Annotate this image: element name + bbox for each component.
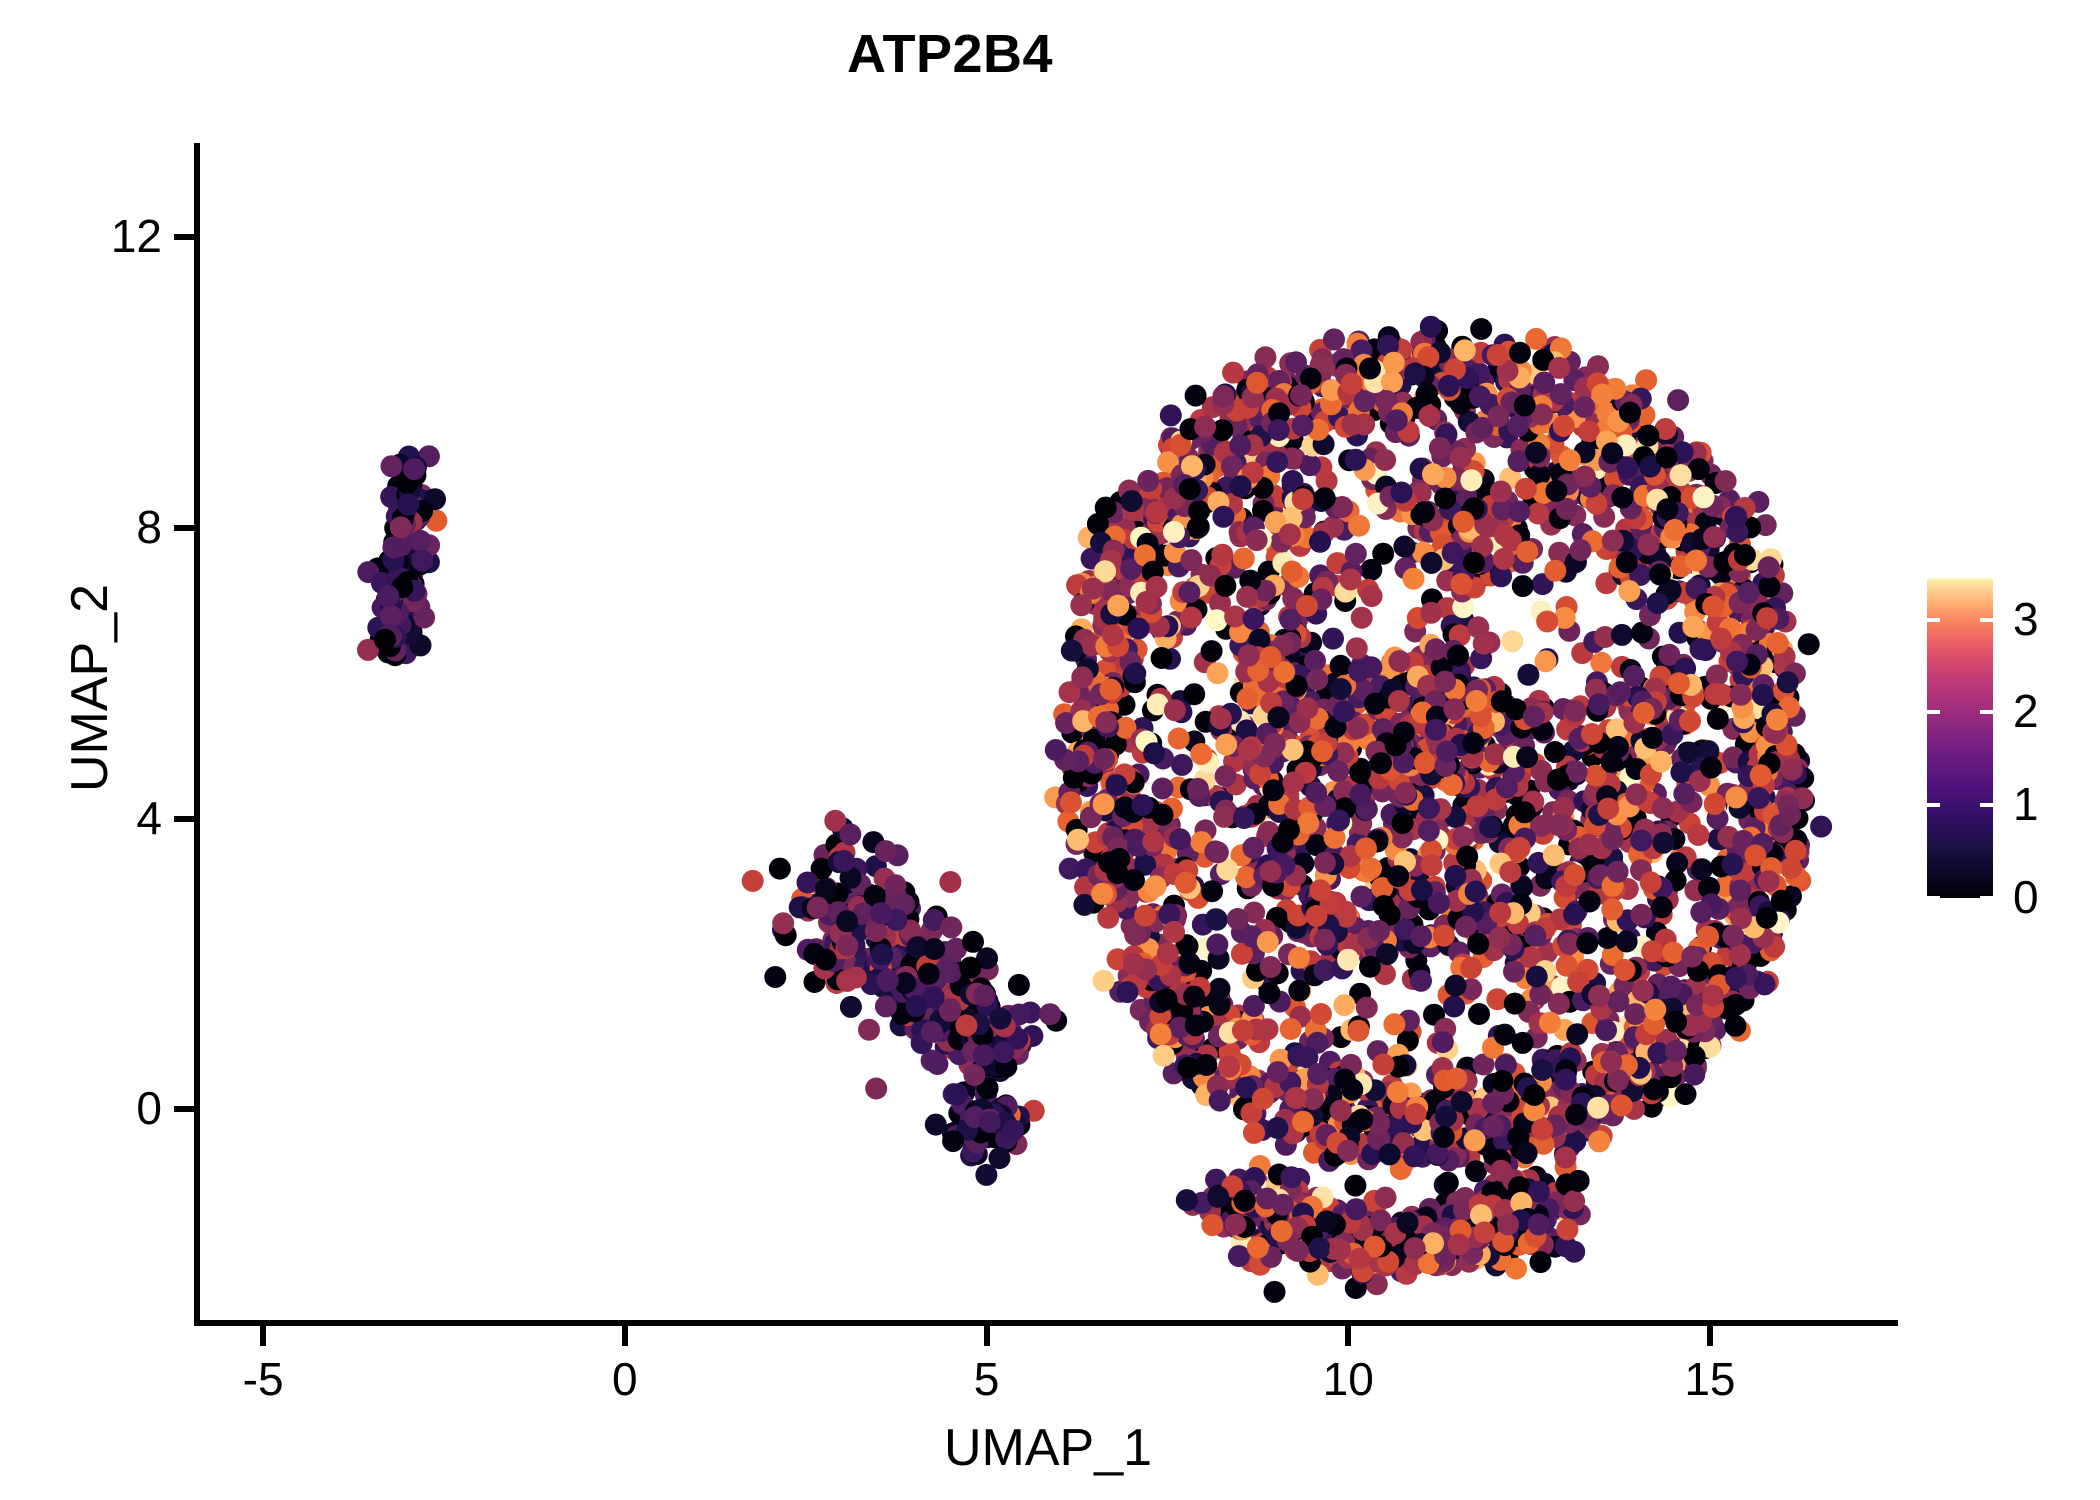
y-tick-label: 0	[136, 1085, 162, 1131]
x-axis-title: UMAP_1	[198, 1420, 1898, 1476]
colorbar-tick-label: 3	[2013, 596, 2039, 642]
colorbar-tick-mark	[1927, 618, 1940, 622]
y-axis-line	[194, 143, 200, 1320]
colorbar-tick-label: 0	[2013, 874, 2039, 920]
scatter-panel	[198, 143, 1898, 1320]
y-axis-title: UMAP_2	[62, 338, 118, 1038]
x-tick-label: 15	[1610, 1356, 1810, 1402]
x-tick-mark	[1707, 1326, 1713, 1346]
colorbar-tick-label: 1	[2013, 781, 2039, 827]
x-tick-mark	[622, 1326, 628, 1346]
y-tick-mark	[174, 1106, 194, 1112]
x-tick-label: 5	[887, 1356, 1087, 1402]
y-tick-mark	[174, 525, 194, 531]
colorbar-tick-mark	[1980, 896, 1993, 900]
x-tick-mark	[1345, 1326, 1351, 1346]
feature-plot-root: ATP2B4 04812 -5051015 UMAP_1 UMAP_2 3210	[0, 0, 2100, 1500]
color-legend: 3210	[1927, 578, 1993, 898]
y-tick-mark	[174, 816, 194, 822]
page-title: ATP2B4	[0, 26, 1900, 83]
colorbar-tick-mark	[1927, 896, 1940, 900]
scatter-canvas	[198, 143, 1898, 1320]
colorbar-tick-mark	[1927, 710, 1940, 714]
y-tick-label: 8	[136, 504, 162, 550]
colorbar-gradient	[1927, 578, 1993, 898]
colorbar-tick-mark	[1927, 803, 1940, 807]
x-tick-mark	[260, 1326, 266, 1346]
x-tick-label: 10	[1248, 1356, 1448, 1402]
y-tick-mark	[174, 234, 194, 240]
x-tick-mark	[984, 1326, 990, 1346]
colorbar-tick-mark	[1980, 803, 1993, 807]
colorbar-tick-mark	[1980, 618, 1993, 622]
colorbar-tick-label: 2	[2013, 688, 2039, 734]
x-tick-label: 0	[525, 1356, 725, 1402]
x-tick-label: -5	[163, 1356, 363, 1402]
y-tick-label: 12	[111, 213, 162, 259]
y-tick-label: 4	[136, 795, 162, 841]
x-axis-line	[194, 1320, 1898, 1326]
colorbar-tick-mark	[1980, 710, 1993, 714]
